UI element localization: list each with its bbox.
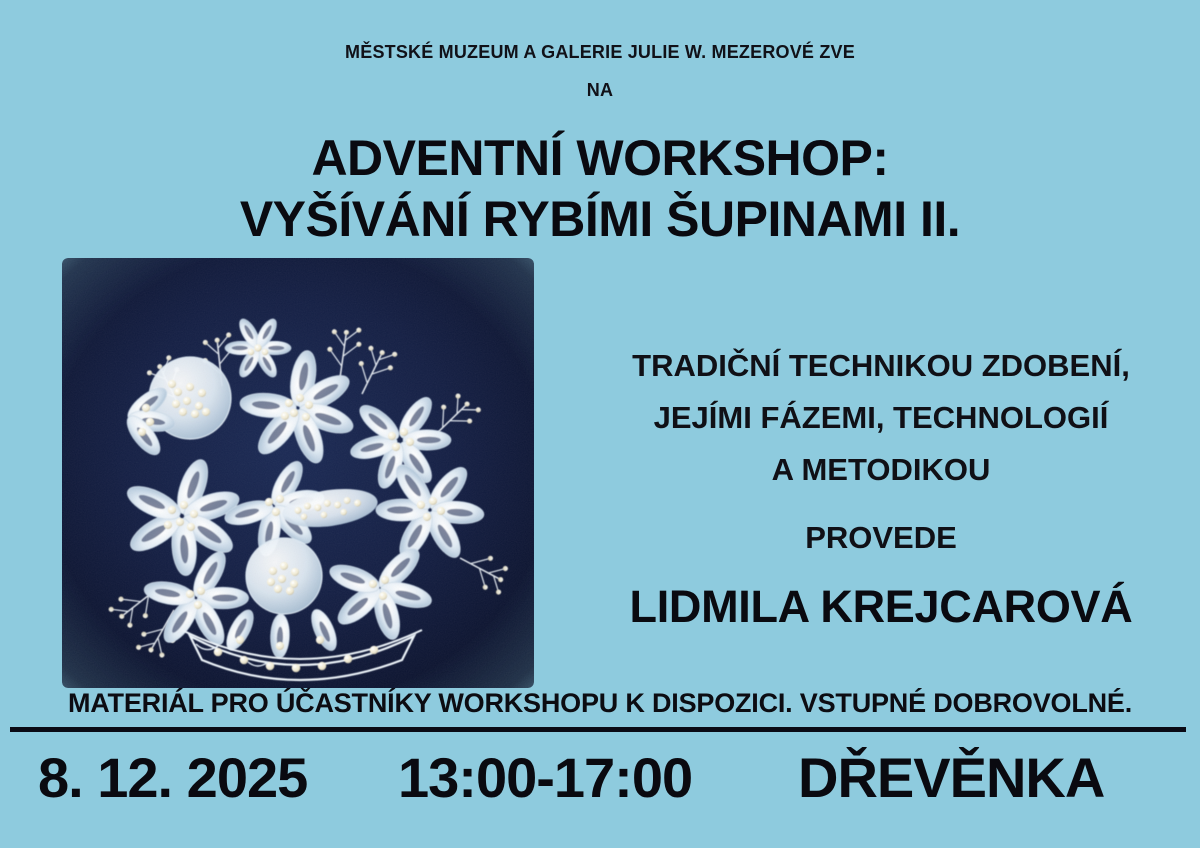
event-info-bar: 8. 12. 2025 13:00-17:00 DŘEVĚNKA (0, 748, 1200, 848)
event-poster: MĚSTSKÉ MUZEUM A GALERIE JULIE W. MEZERO… (0, 0, 1200, 848)
footer-note: MATERIÁL PRO ÚČASTNÍKY WORKSHOPU K DISPO… (0, 688, 1200, 719)
organizer-line: MĚSTSKÉ MUZEUM A GALERIE JULIE W. MEZERO… (0, 42, 1200, 63)
event-date: 8. 12. 2025 (38, 748, 307, 808)
fish-scale-embroidery-photo (62, 258, 534, 688)
presenter-name: LIDMILA KREJCAROVÁ (596, 578, 1166, 636)
event-venue: DŘEVĚNKA (798, 748, 1104, 808)
horizontal-divider (10, 727, 1186, 732)
page-title: ADVENTNÍ WORKSHOP: VYŠÍVÁNÍ RYBÍMI ŠUPIN… (0, 128, 1200, 250)
presenter-lead-in: PROVEDE (596, 512, 1166, 564)
event-time: 13:00-17:00 (398, 748, 692, 808)
title-line-1: ADVENTNÍ WORKSHOP: (0, 128, 1200, 189)
title-line-2: VYŠÍVÁNÍ RYBÍMI ŠUPINAMI II. (0, 189, 1200, 250)
workshop-description: TRADIČNÍ TECHNIKOU ZDOBENÍ, JEJÍMI FÁZEM… (596, 340, 1166, 636)
description-line-3: A METODIKOU (596, 444, 1166, 496)
artwork-container (62, 258, 534, 688)
description-line-2: JEJÍMI FÁZEMI, TECHNOLOGIÍ (596, 392, 1166, 444)
invitation-word: NA (0, 80, 1200, 101)
description-line-1: TRADIČNÍ TECHNIKOU ZDOBENÍ, (596, 340, 1166, 392)
